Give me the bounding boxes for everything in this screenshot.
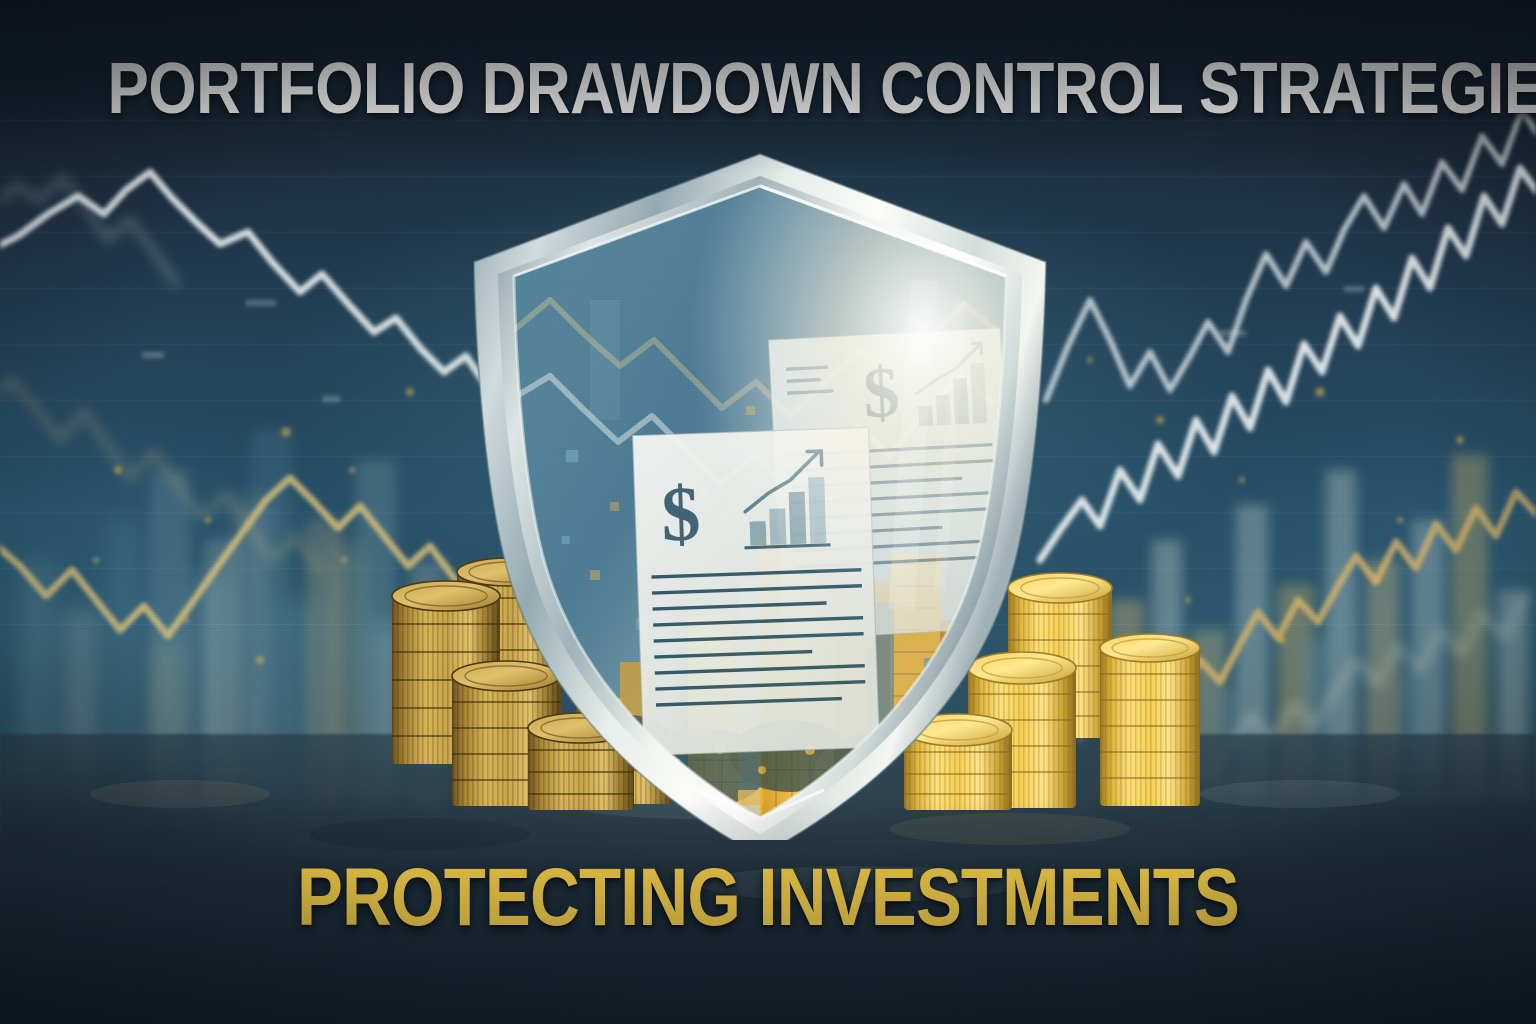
poster-canvas: $ xyxy=(0,0,1536,1024)
coin-stack-right-rear xyxy=(1100,634,1200,806)
page-subtitle: PROTECTING INVESTMENTS xyxy=(123,856,1413,940)
protective-shield: $ xyxy=(470,150,1050,840)
page-title: PORTFOLIO DRAWDOWN CONTROL STRATEGIES xyxy=(108,52,1429,126)
shield-graphic: $ xyxy=(470,150,1050,840)
